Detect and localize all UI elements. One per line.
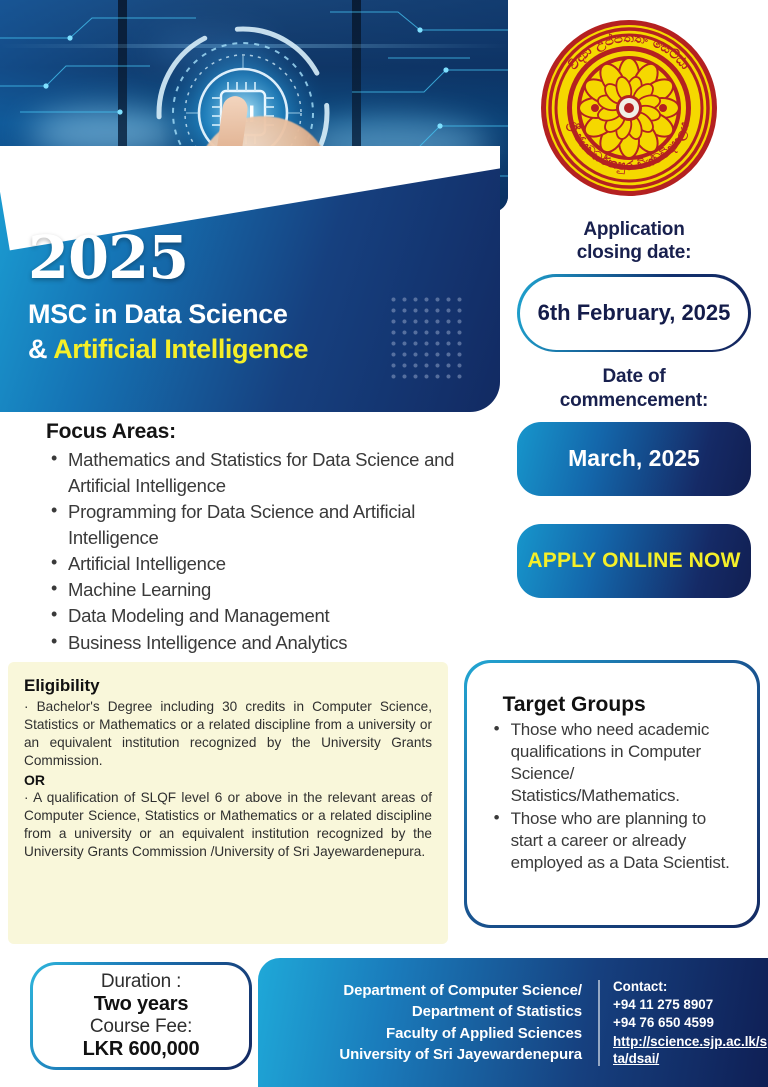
footer-bar: Department of Computer Science/ Departme… — [258, 958, 768, 1087]
poster-root: AI 2025 MSC in Data Science & Artificial… — [0, 0, 768, 1087]
list-item: Business Intelligence and Analytics — [46, 630, 476, 656]
duration-label: Duration : — [101, 971, 181, 993]
eligibility-or-divider: OR — [24, 771, 432, 789]
year-heading: 2025 — [28, 228, 500, 287]
dates-column: Application closing date: 6th February, … — [500, 218, 768, 598]
target-groups-panel: Target Groups Those who need academic qu… — [464, 660, 760, 928]
program-title-highlight: Artificial Intelligence — [53, 334, 308, 364]
course-fee-value: LKR 600,000 — [83, 1038, 200, 1061]
university-logo: විද්‍යා උප්පතතං සෙට්ඨා ශ්‍රී ජයවර්ධනපුර … — [539, 18, 719, 198]
application-closing-date-value: 6th February, 2025 — [520, 277, 749, 350]
list-item: Those who are planning to start a career… — [489, 808, 742, 874]
footer-department-line: Faculty of Applied Sciences — [386, 1023, 582, 1044]
list-item: Programming for Data Science and Artific… — [46, 499, 476, 551]
commencement-label-line2: commencement: — [500, 389, 768, 412]
program-title-ampersand: & — [28, 334, 53, 364]
contact-phone-1[interactable]: +94 11 275 8907 — [613, 996, 768, 1014]
list-item: Data Modeling and Management — [46, 603, 476, 629]
commencement-label-line1: Date of — [500, 365, 768, 388]
application-closing-date-pill: 6th February, 2025 — [517, 274, 751, 352]
contact-heading: Contact: — [613, 978, 768, 996]
eligibility-clause-1: · Bachelor's Degree including 30 credits… — [24, 698, 432, 770]
footer-department-line: Department of Statistics — [412, 1001, 582, 1022]
commencement-date-value: March, 2025 — [517, 422, 751, 496]
application-closing-label-line1: Application — [500, 218, 768, 241]
footer-department-line: Department of Computer Science/ — [343, 980, 582, 1001]
list-item: Those who need academic qualifications i… — [489, 719, 742, 807]
program-title-line-1: MSC in Data Science — [28, 297, 500, 332]
eligibility-panel: Eligibility · Bachelor's Degree includin… — [8, 662, 448, 944]
program-title-line-2: & Artificial Intelligence — [28, 332, 500, 367]
list-item: Mathematics and Statistics for Data Scie… — [46, 447, 476, 499]
commencement-label: Date of commencement: — [500, 365, 768, 411]
list-item: Machine Learning — [46, 577, 476, 603]
eligibility-heading: Eligibility — [24, 676, 432, 696]
target-groups-list: Those who need academic qualifications i… — [489, 719, 742, 875]
focus-areas-heading: Focus Areas: — [46, 420, 476, 444]
contact-website-link[interactable]: http://science.sjp.ac.lk/sta/dsai/ — [613, 1033, 768, 1068]
apply-online-button[interactable]: APPLY ONLINE NOW — [517, 524, 751, 598]
list-item: Artificial Intelligence — [46, 551, 476, 577]
contact-phone-2[interactable]: +94 76 650 4599 — [613, 1014, 768, 1032]
footer-department-line: University of Sri Jayewardenepura — [339, 1044, 582, 1065]
target-groups-heading: Target Groups — [489, 693, 742, 717]
title-banner: 2025 MSC in Data Science & Artificial In… — [0, 146, 500, 412]
duration-fee-panel: Duration : Two years Course Fee: LKR 600… — [30, 962, 252, 1070]
focus-areas-list: Mathematics and Statistics for Data Scie… — [46, 447, 476, 656]
application-closing-label-line2: closing date: — [500, 241, 768, 264]
eligibility-clause-2: · A qualification of SLQF level 6 or abo… — [24, 789, 432, 861]
footer-department-block: Department of Computer Science/ Departme… — [258, 958, 598, 1087]
university-crest-icon: විද්‍යා උප්පතතං සෙට්ඨා ශ්‍රී ජයවර්ධනපුර … — [539, 18, 719, 198]
course-fee-label: Course Fee: — [90, 1016, 192, 1038]
focus-areas-section: Focus Areas: Mathematics and Statistics … — [46, 420, 476, 656]
application-closing-label: Application closing date: — [500, 218, 768, 264]
footer-contact-block: Contact: +94 11 275 8907 +94 76 650 4599… — [600, 958, 768, 1087]
duration-value: Two years — [94, 993, 189, 1016]
